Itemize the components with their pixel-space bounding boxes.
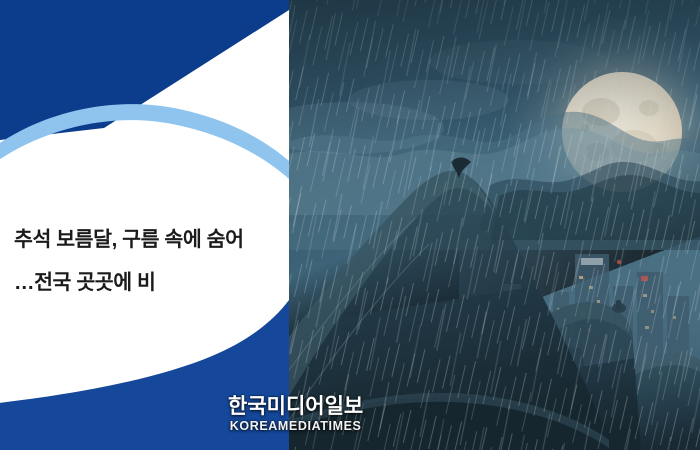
rainy-night-moon-hanok-illustration: [289, 0, 700, 450]
headline-line-1: 추석 보름달, 구름 속에 숨어: [14, 218, 282, 261]
headline: 추석 보름달, 구름 속에 숨어 …전국 곳곳에 비: [14, 218, 282, 304]
headline-line-2: …전국 곳곳에 비: [14, 261, 282, 304]
text-panel: 추석 보름달, 구름 속에 숨어 …전국 곳곳에 비: [0, 0, 289, 450]
news-card: 추석 보름달, 구름 속에 숨어 …전국 곳곳에 비 한국미디어일보 KOREA…: [0, 0, 700, 450]
article-photo: [289, 0, 700, 450]
